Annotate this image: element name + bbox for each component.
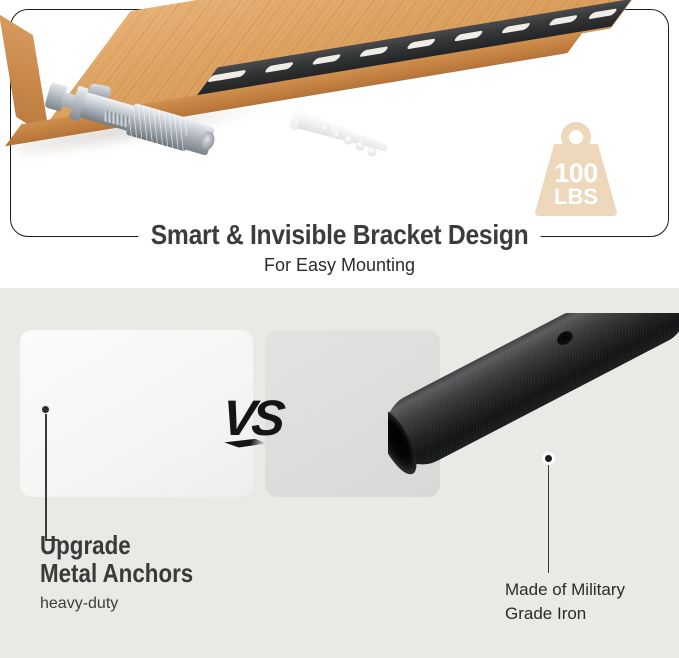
weight-value: 100 (554, 161, 598, 186)
subheadline-text: For Easy Mounting (0, 255, 679, 276)
infographic-page: 100 LBS Smart & Invisible Bracket Design… (0, 0, 679, 658)
bracket-slot (264, 62, 295, 73)
bracket-slot (501, 23, 532, 34)
weight-icon-body: 100 LBS (534, 144, 618, 216)
pipe-callout-dot (542, 452, 555, 465)
bracket-slot (548, 15, 579, 26)
bracket-slot (453, 30, 484, 41)
callout-left-line2: Metal Anchors (40, 559, 193, 587)
pipe-callout: Made of Military Grade Iron (505, 578, 625, 626)
versus-label: VS (220, 390, 284, 446)
callout-right-line2: Grade Iron (505, 602, 625, 626)
callout-right-line1: Made of Military (505, 578, 625, 602)
metal-anchor-leader-line (45, 414, 47, 541)
iron-pipe-image (388, 313, 679, 558)
headline-text: Smart & Invisible Bracket Design (138, 219, 540, 251)
metal-anchor-callout: Upgrade Metal Anchors heavy-duty (40, 531, 218, 613)
versus-mark: VS (219, 388, 291, 460)
bracket-slot (311, 54, 342, 65)
weight-unit: LBS (554, 186, 598, 207)
headline-row: Smart & Invisible Bracket Design (0, 215, 679, 255)
weight-capacity-badge: 100 LBS (530, 122, 622, 216)
callout-left-subtitle: heavy-duty (40, 595, 218, 613)
bracket-slot (406, 38, 437, 49)
pipe-mounting-hole (555, 328, 576, 347)
metal-anchor-panel (20, 330, 253, 497)
bracket-slot (587, 8, 618, 19)
callout-left-line1: Upgrade (40, 531, 193, 559)
bracket-slot (358, 46, 389, 57)
pipe-body (388, 313, 679, 477)
pipe-leader-line (548, 465, 549, 573)
